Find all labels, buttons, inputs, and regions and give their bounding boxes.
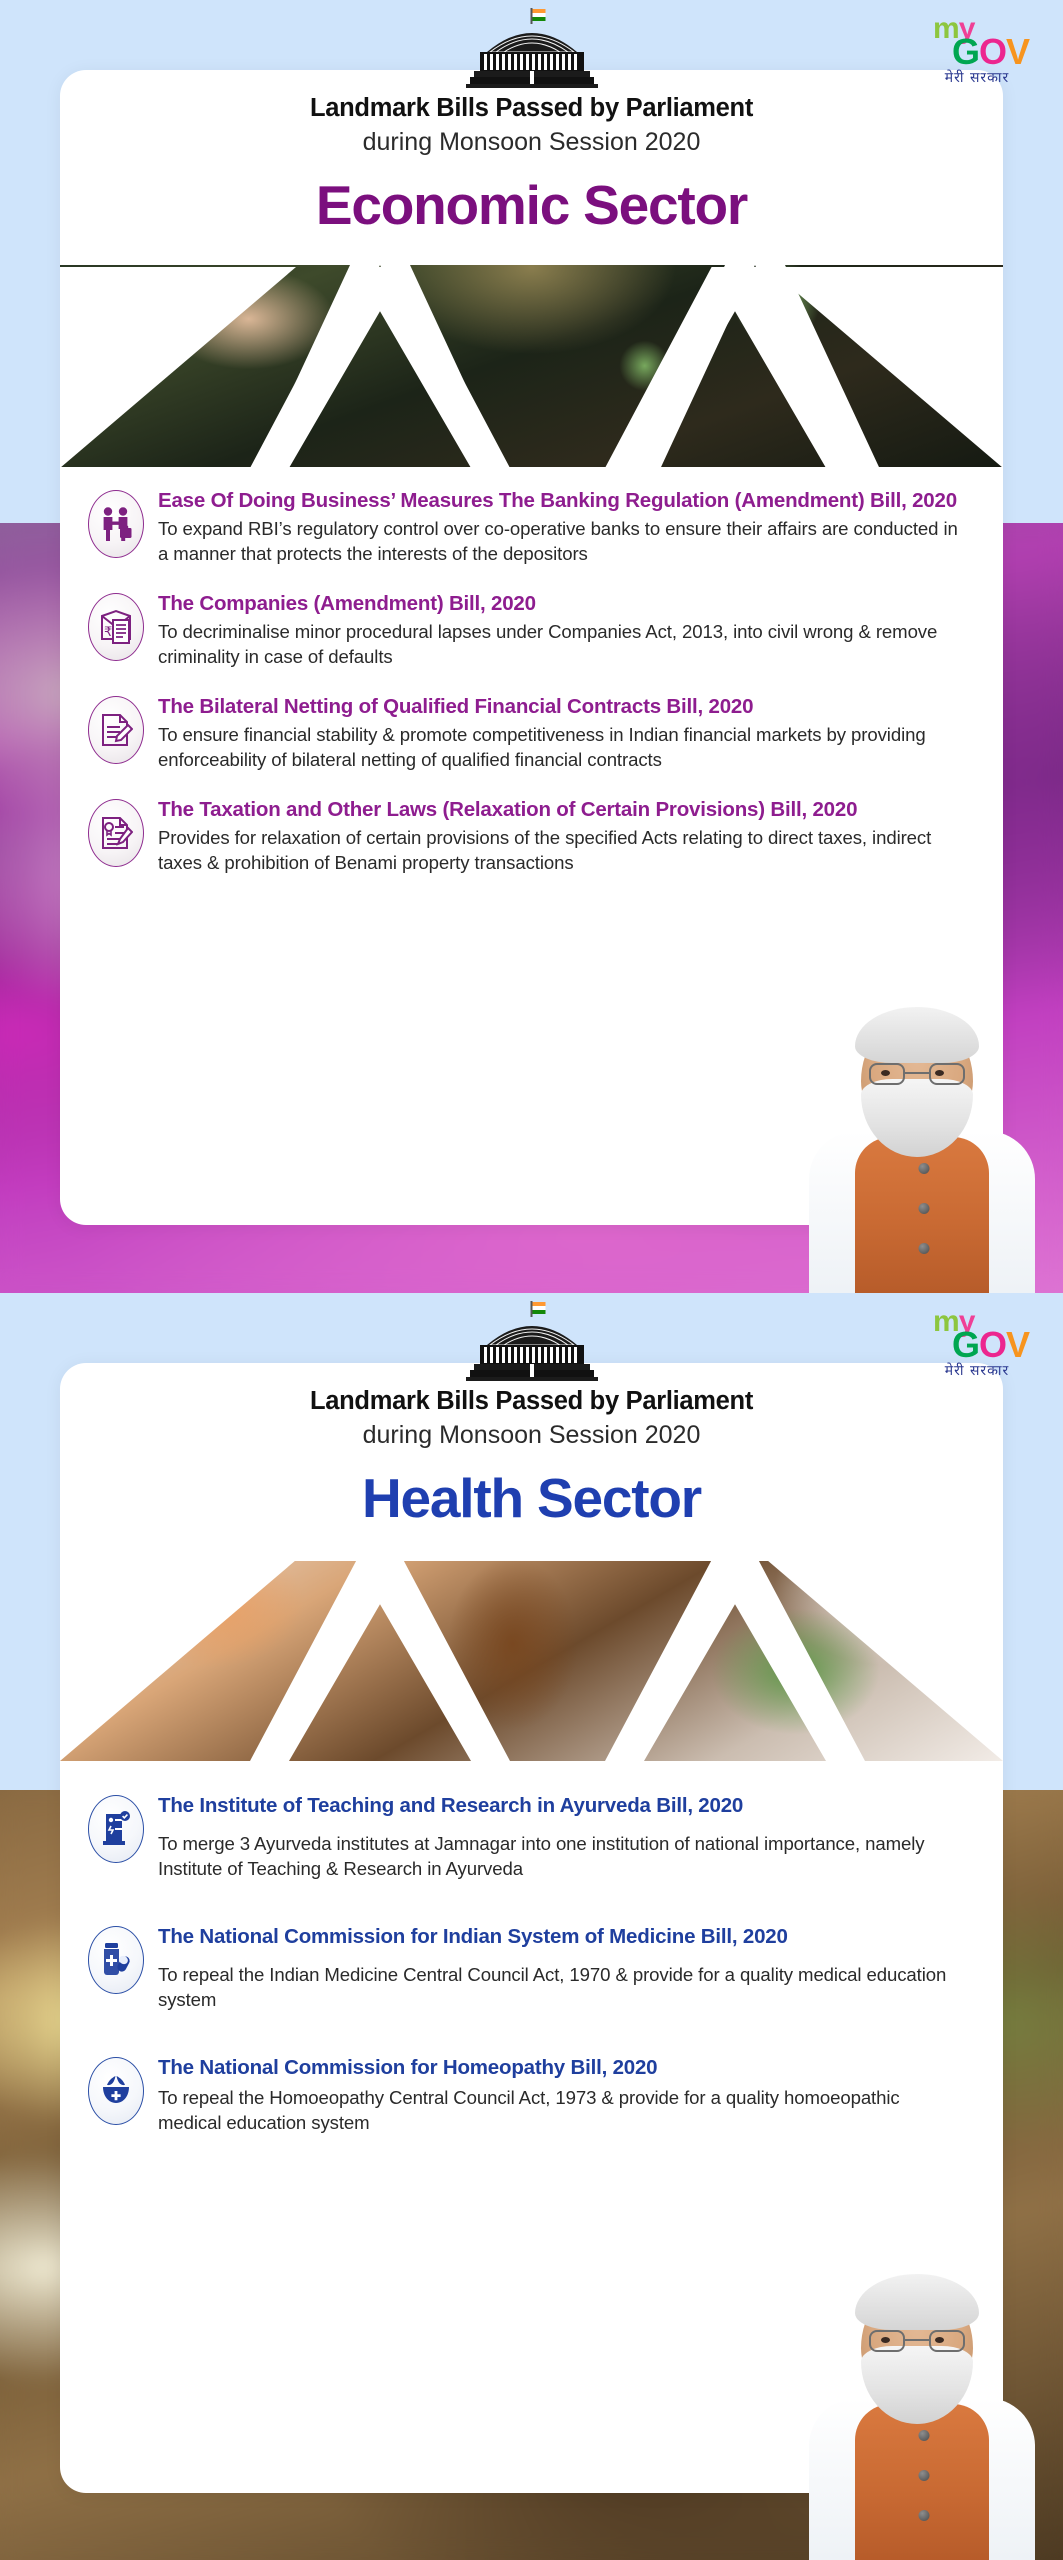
mygov-logo[interactable]: my GOV मेरी सरकार [921, 14, 1033, 85]
medicine-bottle-capsules-icon [88, 1926, 144, 1994]
ayurveda-scroll-icon [88, 1795, 144, 1863]
bill-description: To repeal the Indian Medicine Central Co… [158, 1963, 965, 2012]
health-hero-image [60, 1548, 1003, 1761]
sector-title-economic: Economic Sector [100, 173, 963, 237]
economic-bill-list: Ease Of Doing Business’ Measures The Ban… [60, 468, 1003, 875]
panel-health-sector: my GOV मेरी सरकार Landmark Bills Passed … [0, 1293, 1063, 2560]
page-subtitle: during Monsoon Session 2020 [100, 128, 963, 157]
infographic-page: my GOV मेरी सरकार Landmark Bills Passed … [0, 0, 1063, 2560]
rupee-document-envelope-icon: ₹ [88, 593, 144, 661]
bill-text: The Taxation and Other Laws (Relaxation … [158, 795, 965, 876]
bill-title: The National Commission for Homeopathy B… [158, 2055, 965, 2080]
sector-title-health: Health Sector [100, 1466, 963, 1530]
bill-title: Ease Of Doing Business’ Measures The Ban… [158, 488, 965, 513]
bill-item[interactable]: The Institute of Teaching and Research i… [88, 1791, 965, 1882]
bill-item[interactable]: ₹ The Companies (Amendment) Bill, 2020 T… [88, 589, 965, 670]
bill-title: The National Commission for Indian Syste… [158, 1924, 965, 1949]
economic-hero-image [60, 255, 1003, 468]
bill-item[interactable]: The Bilateral Netting of Qualified Finan… [88, 692, 965, 773]
bill-description: To ensure financial stability & promote … [158, 723, 965, 772]
bill-item[interactable]: Ease Of Doing Business’ Measures The Ban… [88, 486, 965, 567]
panel-economic-sector: my GOV मेरी सरकार Landmark Bills Passed … [0, 0, 1063, 1293]
health-bill-list: The Institute of Teaching and Research i… [60, 1761, 1003, 2136]
hero-wedge-top [60, 1548, 1003, 1561]
bill-title: The Institute of Teaching and Research i… [158, 1793, 965, 1818]
bill-title: The Bilateral Netting of Qualified Finan… [158, 694, 965, 719]
mygov-logo-hindi: मेरी सरकार [921, 1364, 1033, 1378]
bill-title: The Taxation and Other Laws (Relaxation … [158, 797, 965, 822]
certificate-seal-pen-icon [88, 799, 144, 867]
bill-text: The Companies (Amendment) Bill, 2020 To … [158, 589, 965, 670]
bill-text: The Institute of Teaching and Research i… [158, 1791, 965, 1882]
economic-card: Landmark Bills Passed by Parliament duri… [60, 70, 1003, 1225]
health-card: Landmark Bills Passed by Parliament duri… [60, 1363, 1003, 2493]
bill-text: The National Commission for Indian Syste… [158, 1922, 965, 2013]
handshake-briefcase-icon [88, 490, 144, 558]
economic-card-header: Landmark Bills Passed by Parliament duri… [60, 70, 1003, 237]
bill-item[interactable]: The Taxation and Other Laws (Relaxation … [88, 795, 965, 876]
bill-description: To merge 3 Ayurveda institutes at Jamnag… [158, 1832, 965, 1881]
bill-title: The Companies (Amendment) Bill, 2020 [158, 591, 965, 616]
bill-description: To expand RBI’s regulatory control over … [158, 517, 965, 566]
svg-text:₹: ₹ [104, 625, 112, 640]
bill-description: To decriminalise minor procedural lapses… [158, 620, 965, 669]
page-title: Landmark Bills Passed by Parliament [100, 94, 963, 123]
parliament-dome-icon [432, 1301, 632, 1381]
page-title: Landmark Bills Passed by Parliament [100, 1387, 963, 1416]
mygov-logo[interactable]: my GOV मेरी सरकार [921, 1307, 1033, 1378]
bill-text: The Bilateral Netting of Qualified Finan… [158, 692, 965, 773]
bill-description: To repeal the Homoeopathy Central Counci… [158, 2086, 965, 2135]
bill-text: Ease Of Doing Business’ Measures The Ban… [158, 486, 965, 567]
parliament-dome-icon [432, 8, 632, 88]
page-subtitle: during Monsoon Session 2020 [100, 1421, 963, 1450]
bill-item[interactable]: The National Commission for Indian Syste… [88, 1922, 965, 2013]
mygov-logo-hindi: मेरी सरकार [921, 71, 1033, 85]
bill-item[interactable]: The National Commission for Homeopathy B… [88, 2053, 965, 2136]
bill-text: The National Commission for Homeopathy B… [158, 2053, 965, 2136]
document-pen-icon [88, 696, 144, 764]
health-card-header: Landmark Bills Passed by Parliament duri… [60, 1363, 1003, 1530]
bill-description: Provides for relaxation of certain provi… [158, 826, 965, 875]
mortar-pestle-icon [88, 2057, 144, 2125]
